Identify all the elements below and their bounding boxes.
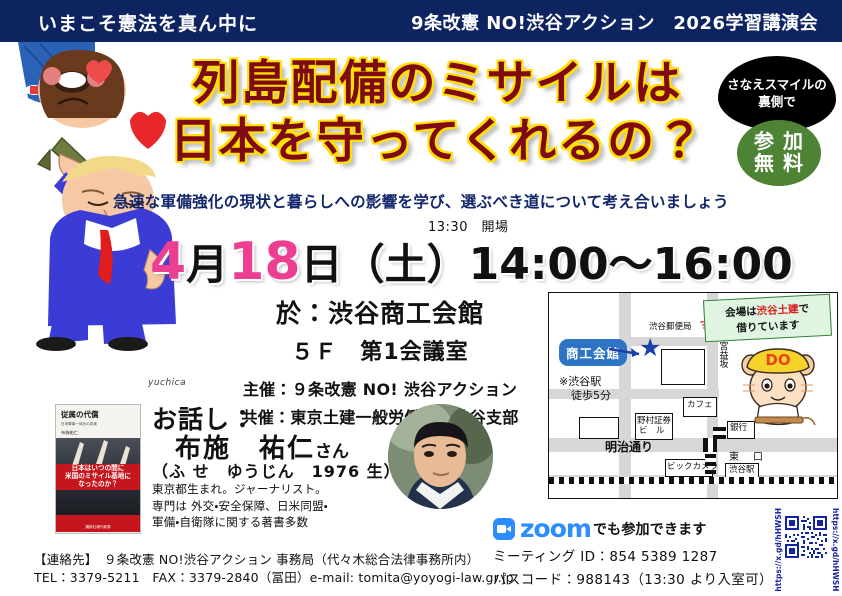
- book-cover-art: 日本はいつの間に 米国のミサイル基地に なったのか？: [56, 438, 140, 515]
- union-mascot: DO: [735, 341, 821, 433]
- speaker-portrait: [388, 404, 493, 509]
- qr-url-right: https://x.gd/hHWSH: [831, 508, 840, 592]
- zoom-suffix-label: でも参加できます: [593, 519, 707, 539]
- illustrator-signature: yuchica: [148, 378, 186, 388]
- free-admission-line1: 参 加: [754, 131, 804, 153]
- map-pointer-arrow: [609, 345, 645, 359]
- zoom-meeting-id: ミーティング ID：854 5389 1287: [493, 545, 773, 565]
- venue-note-bubble: 会場は渋谷土建で 借りています: [703, 294, 832, 343]
- map-label-biccamera: ビックカメラ: [667, 463, 718, 472]
- map-crossing-3: [713, 427, 726, 439]
- header-band: いまこそ憲法を真ん中に 9条改憲 NO!渋谷アクション 2026学習講演会: [0, 0, 842, 42]
- event-datetime: 4月18日（土）14:00〜16:00: [150, 228, 790, 292]
- header-event-title: 9条改憲 NO!渋谷アクション 2026学習講演会: [411, 9, 818, 35]
- venue-note-b: 渋谷土建: [756, 303, 799, 317]
- speaker-bio: 東京都生まれ。ジャーナリスト。 専門は 外交・安全保障、日米同盟・ 軍備・自衛隊…: [152, 481, 328, 531]
- map-block-1: [661, 349, 705, 385]
- book-publisher: 講談社現代新書: [56, 515, 140, 530]
- smiling-face-illustration: [18, 42, 126, 128]
- free-admission-line2: 無 料: [754, 153, 804, 175]
- venue-note-a: 会場は: [725, 305, 757, 319]
- co-organizer: 共催：東京土建一般労働組合渋谷支部: [215, 404, 545, 428]
- book-band-line3: なったのか？: [78, 481, 118, 489]
- book-subtitle: 日米軍事一体化の真実: [61, 422, 136, 427]
- venue-info: 於：渋谷商工会館 ５Ｆ 第1会議室 主催：９条改憲 NO! 渋谷アクション 共催…: [215, 294, 545, 428]
- book-cover: 従属の代償 日米軍事一体化の真実 布施祐仁 日本はいつの間に 米国のミサイル基地…: [55, 404, 141, 534]
- main-title-line1: 列島配備のミサイルは: [150, 55, 725, 113]
- event-month-unit: 月: [186, 240, 228, 289]
- speaker-bio-line3: 軍備・自衛隊に関する著書多数: [152, 514, 328, 531]
- event-poster: いまこそ憲法を真ん中に 9条改憲 NO!渋谷アクション 2026学習講演会: [0, 0, 842, 596]
- zoom-passcode: パスコード：988143（13:30 より入室可）: [493, 568, 773, 588]
- venue-note-line2: 借りています: [736, 317, 800, 335]
- zoom-brand-row: zoom でも参加できます: [493, 516, 773, 541]
- venue-note-c: で: [798, 302, 809, 315]
- map-walk-note-1: ※渋谷駅: [559, 375, 601, 389]
- qr-url-left: https://x.gd/hHWSH: [774, 508, 783, 592]
- map-walk-note-2: 徒歩5分: [571, 389, 611, 403]
- access-map: 商工会館 ★ 渋谷郵便局 宮益坂 カフェ 野村証券 ビ ル 銀行 明治通り ビッ…: [548, 292, 838, 499]
- svg-text:DO: DO: [765, 351, 790, 369]
- book-cover-footer: 講談社現代新書: [56, 515, 140, 532]
- organizer: 主催：９条改憲 NO! 渋谷アクション: [215, 376, 545, 400]
- venue-name: 於：渋谷商工会館: [215, 294, 545, 330]
- satire-note-line1: さなえスマイルの: [727, 77, 827, 93]
- map-label-nomura-2: ビ ル: [639, 427, 665, 436]
- map-label-post-office: 渋谷郵便局: [649, 323, 692, 332]
- map-label-east-exit: 東 口: [729, 453, 765, 464]
- map-railway: [549, 477, 837, 484]
- subtitle-text: 急速な軍備強化の現状と暮らしへの影響を学び、選ぶべき道について考え合いましょう: [0, 190, 842, 212]
- map-block-2: [579, 417, 619, 439]
- speaker-kana: （ふ せ ゆうじん 1976 生）: [152, 458, 401, 482]
- main-title: 列島配備のミサイルは 日本を守ってくれるの？: [150, 55, 725, 172]
- map-label-slope: 宮益坂: [717, 341, 726, 368]
- map-crossing-1: [703, 438, 717, 452]
- map-label-station: 渋谷駅: [729, 466, 755, 475]
- speaker-bio-line2: 専門は 外交・安全保障、日米同盟・: [152, 498, 328, 515]
- event-day-number: 18: [228, 232, 300, 292]
- zoom-participation-block: zoom でも参加できます ミーティング ID：854 5389 1287 パス…: [493, 516, 773, 588]
- map-road-meiji: [549, 438, 837, 452]
- book-cover-header: 従属の代償 日米軍事一体化の真実 布施祐仁: [56, 405, 140, 438]
- map-label-meiji-street: 明治通り: [605, 441, 653, 454]
- satire-note-line2: 裏側で: [758, 94, 796, 110]
- free-admission-badge: 参 加 無 料: [737, 120, 821, 186]
- contact-line-2: TEL：3379-5211 FAX：3379-2840（冨田）e-mail: t…: [34, 567, 514, 586]
- contact-line-1: 【連絡先】 ９条改憲 NO!渋谷アクション 事務局（代々木総合法律事務所内）: [34, 549, 479, 568]
- video-camera-icon: [493, 518, 515, 540]
- zoom-brand-label: zoom: [520, 516, 591, 541]
- speaker-bio-line1: 東京都生まれ。ジャーナリスト。: [152, 481, 328, 498]
- qr-code-block[interactable]: https://x.gd/hHWSH https://x.gd/hHWSH: [783, 506, 829, 586]
- book-title: 従属の代償: [61, 409, 136, 420]
- book-author: 布施祐仁: [61, 430, 136, 436]
- event-time-range: 14:00〜16:00: [469, 239, 793, 290]
- map-label-cafe: カフェ: [687, 401, 713, 410]
- qr-code-image[interactable]: [785, 516, 827, 558]
- header-slogan: いまこそ憲法を真ん中に: [38, 9, 258, 36]
- event-day-unit: 日（土）: [301, 240, 469, 289]
- event-month-number: 4: [150, 232, 186, 292]
- book-obi-band: 日本はいつの間に 米国のミサイル基地に なったのか？: [56, 464, 140, 490]
- venue-room: ５Ｆ 第1会議室: [215, 334, 545, 366]
- main-title-line2: 日本を守ってくれるの？: [150, 113, 725, 171]
- map-label-nomura-1: 野村証券: [637, 417, 671, 426]
